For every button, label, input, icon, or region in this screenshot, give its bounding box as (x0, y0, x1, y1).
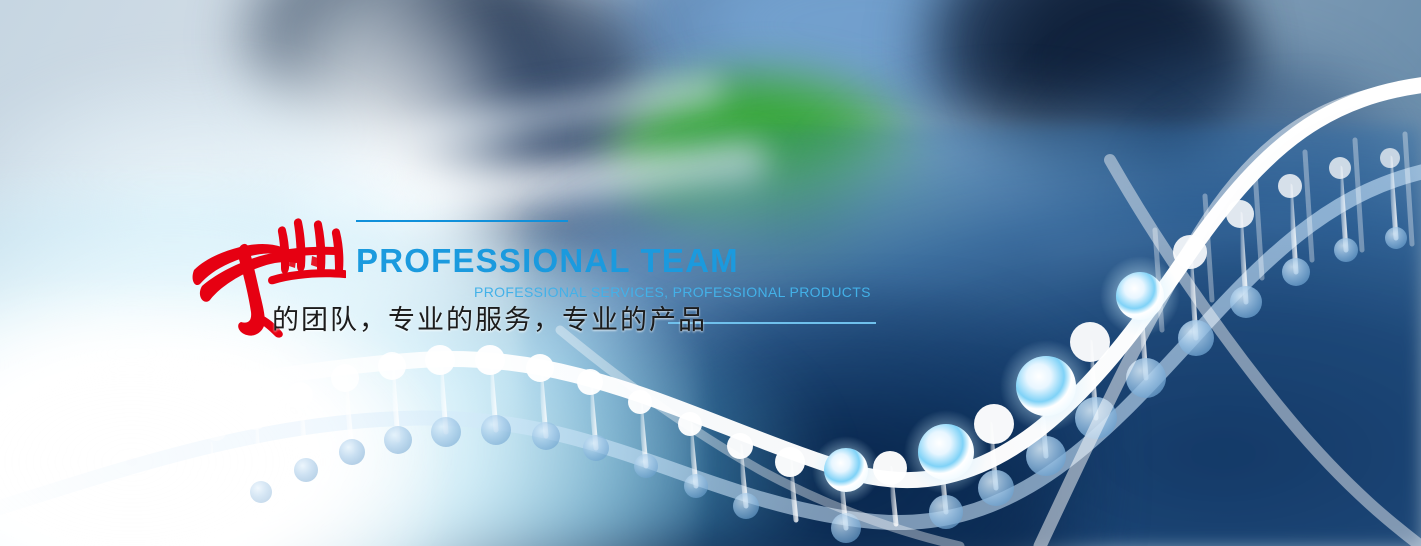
hero-banner: PROFESSIONAL TEAM PROFESSIONAL SERVICES,… (0, 0, 1421, 546)
decorative-rule-top (356, 220, 568, 222)
page-subtitle: PROFESSIONAL SERVICES, PROFESSIONAL PROD… (474, 285, 871, 299)
page-title: PROFESSIONAL TEAM (356, 244, 739, 277)
chinese-tagline: 的团队，专业的服务，专业的产品 (272, 305, 707, 337)
